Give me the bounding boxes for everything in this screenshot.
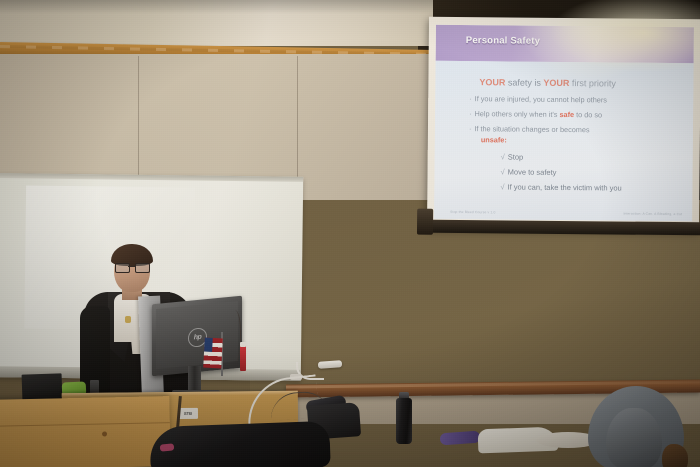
slide-headline: YOUR safety is YOUR first priority bbox=[479, 77, 616, 88]
black-bag bbox=[149, 421, 330, 467]
headline-first-priority: first priority bbox=[569, 78, 616, 88]
slide-footer-left: Stop the Bleed Course v 1.0 bbox=[450, 210, 495, 214]
water-bottle[interactable] bbox=[396, 398, 412, 444]
headline-your-2: YOUR bbox=[543, 78, 569, 88]
bullet-2-post: to do so bbox=[574, 110, 602, 119]
upper-wall bbox=[0, 0, 433, 46]
slide-check-1: √Stop bbox=[501, 152, 524, 161]
bullet-2-pre: Help others only when it's bbox=[475, 109, 560, 119]
glasses-lens-right bbox=[135, 263, 150, 273]
screen-bottom-weight-bar bbox=[421, 220, 700, 236]
red-marker bbox=[240, 345, 246, 371]
flag-canton bbox=[204, 338, 213, 352]
bullet-marker: · bbox=[469, 109, 472, 118]
checkmark-icon: √ bbox=[500, 182, 504, 191]
bullet-marker: · bbox=[469, 94, 472, 103]
bullet-3-keyword-unsafe: unsafe: bbox=[481, 135, 507, 144]
bullet-2-keyword-safe: safe bbox=[559, 110, 574, 119]
projection-screen-assembly: Personal Safety YOUR safety is YOUR firs… bbox=[427, 17, 700, 235]
slide-bullet-2: ·Help others only when it's safe to do s… bbox=[469, 109, 602, 119]
presentation-slide: Personal Safety YOUR safety is YOUR firs… bbox=[434, 25, 694, 221]
bullet-1-text: If you are injured, you cannot help othe… bbox=[475, 94, 607, 104]
check-2-text: Move to safety bbox=[508, 167, 557, 176]
glasses-lens-left bbox=[115, 263, 130, 273]
headscarf-fold bbox=[606, 408, 662, 467]
checkmark-icon: √ bbox=[501, 167, 505, 176]
foreground-counter bbox=[0, 396, 171, 467]
podium-label: STB bbox=[178, 408, 198, 419]
slide-bullet-1: ·If you are injured, you cannot help oth… bbox=[469, 94, 607, 104]
slide-body: YOUR safety is YOUR first priority ·If y… bbox=[434, 61, 694, 221]
glasses-bridge bbox=[128, 266, 135, 267]
headline-safety-is: safety is bbox=[505, 77, 543, 87]
monitor-stand-neck bbox=[188, 366, 201, 392]
slide-bullet-3: ·If the situation changes or becomes bbox=[469, 124, 590, 134]
slide-bullet-3-wrap: unsafe: bbox=[481, 135, 507, 144]
audience-hair bbox=[662, 444, 688, 467]
check-1-text: Stop bbox=[508, 152, 524, 161]
counter-seam bbox=[0, 422, 170, 427]
eyeglasses-icon bbox=[114, 263, 150, 271]
projection-screen-surface: Personal Safety YOUR safety is YOUR firs… bbox=[427, 17, 700, 230]
slide-footer-right: Interaction: A Can. A Bleeding, a Cut bbox=[623, 212, 682, 217]
red-marker-cap bbox=[240, 342, 246, 347]
checkmark-icon: √ bbox=[501, 152, 505, 161]
screen-left-endcap bbox=[417, 209, 433, 235]
slide-check-3: √If you can, take the victim with you bbox=[500, 182, 621, 192]
background-laptop bbox=[22, 373, 63, 400]
slide-check-2: √Move to safety bbox=[501, 167, 557, 177]
counter-knob[interactable] bbox=[102, 431, 107, 436]
audience-member bbox=[588, 386, 684, 467]
classroom-scene: Personal Safety YOUR safety is YOUR firs… bbox=[0, 0, 700, 467]
presenter-badge bbox=[125, 316, 131, 323]
bullet-marker: · bbox=[469, 124, 472, 133]
usa-flag-icon bbox=[203, 338, 223, 369]
slide-title: Personal Safety bbox=[466, 35, 540, 47]
check-3-text: If you can, take the victim with you bbox=[507, 182, 621, 192]
headline-your-1: YOUR bbox=[479, 77, 505, 87]
bullet-3-text: If the situation changes or becomes bbox=[474, 124, 589, 134]
monitor-cable bbox=[226, 310, 241, 362]
